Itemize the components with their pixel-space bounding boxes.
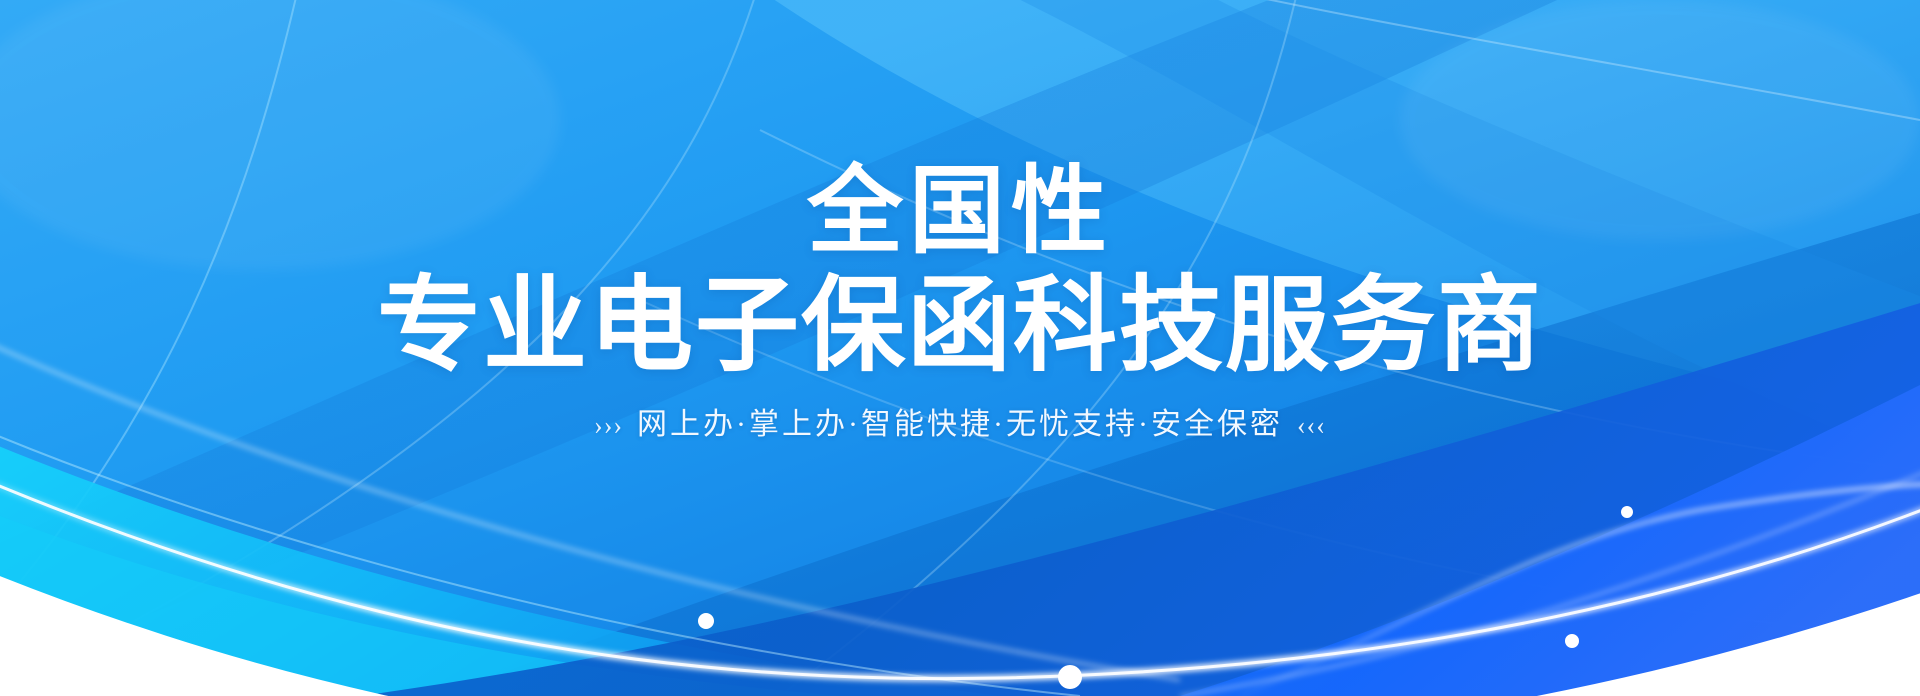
node-dot-right-upper bbox=[1621, 506, 1633, 518]
hero-banner: 全国性 专业电子保函科技服务商 ›››网上办·掌上办·智能快捷·无忧支持·安全保… bbox=[0, 0, 1920, 696]
background-graphic bbox=[0, 0, 1920, 696]
glow-blob-top-right bbox=[1400, 0, 1920, 240]
node-dot-bottom-left bbox=[698, 613, 714, 629]
node-dot-bottom-center bbox=[1058, 665, 1082, 689]
node-dot-bottom-right bbox=[1565, 634, 1579, 648]
